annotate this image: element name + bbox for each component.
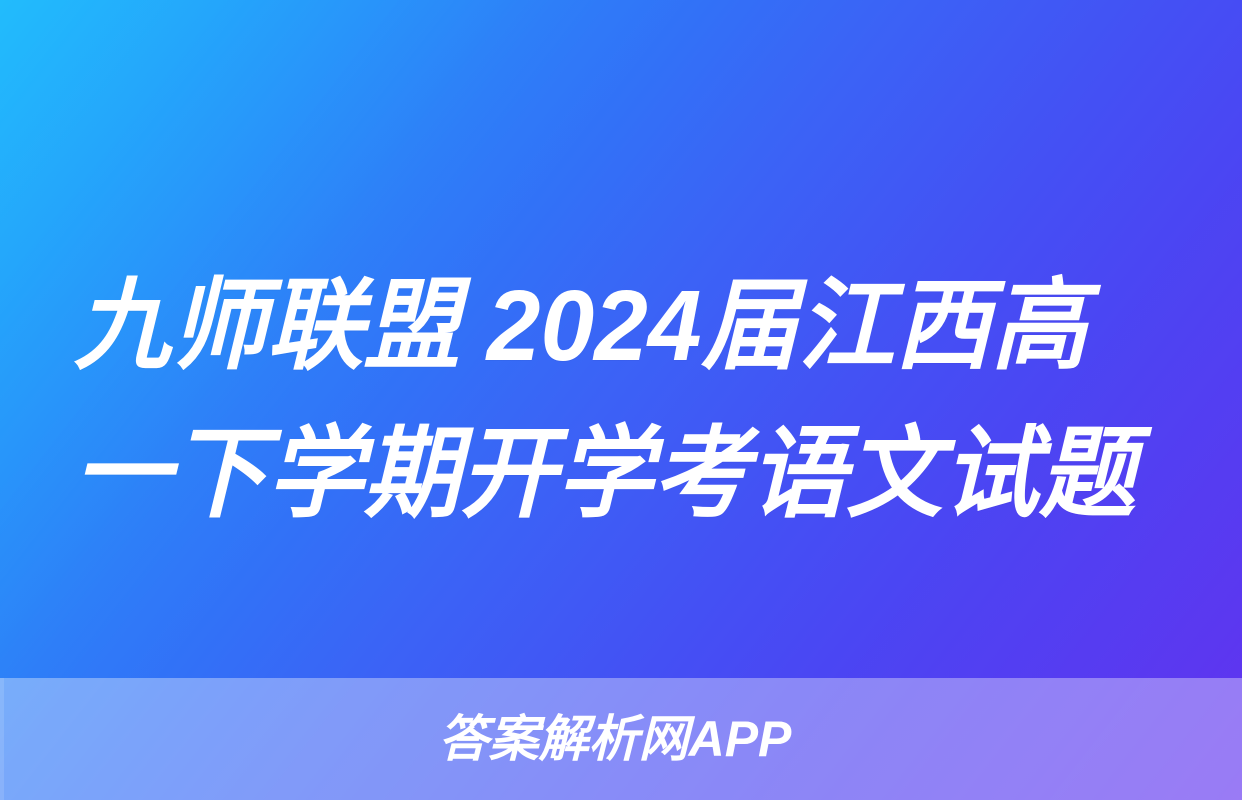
watermark-brand-label: 答案解析网APP — [0, 714, 1242, 764]
page-title: 九师联盟 2024届江西高一下学期开学考语文试题 — [74, 252, 1136, 548]
watermark-bar: 答案解析网APP — [0, 678, 1242, 800]
share-card: 九师联盟 2024届江西高一下学期开学考语文试题 答案解析网APP — [0, 0, 1242, 800]
